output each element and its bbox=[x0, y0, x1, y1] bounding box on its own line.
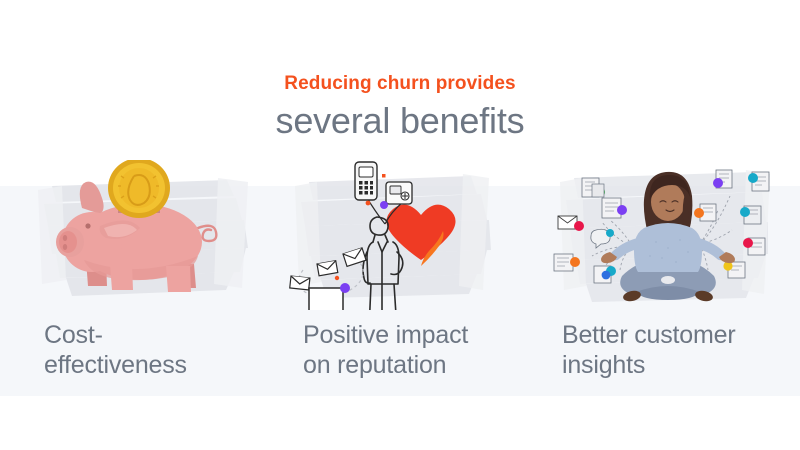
meditating-woman-with-data-nodes-icon bbox=[540, 160, 790, 310]
eyebrow-text: Reducing churn provides bbox=[0, 72, 800, 96]
piggy-bank-with-coin-icon bbox=[22, 160, 272, 310]
benefit-item-cost-effectiveness: Cost- effectiveness bbox=[22, 160, 272, 390]
page-title: several benefits bbox=[0, 98, 800, 144]
person-with-heart-and-messages-icon bbox=[281, 160, 531, 310]
benefit-caption: Better customer insights bbox=[562, 320, 800, 380]
benefit-caption: Positive impact on reputation bbox=[303, 320, 543, 380]
benefit-item-positive-impact: Positive impact on reputation bbox=[281, 160, 531, 390]
benefit-item-better-customer-insights: Better customer insights bbox=[540, 160, 790, 390]
benefit-caption: Cost- effectiveness bbox=[44, 320, 284, 380]
title-block: Reducing churn provides several benefits bbox=[0, 72, 800, 144]
